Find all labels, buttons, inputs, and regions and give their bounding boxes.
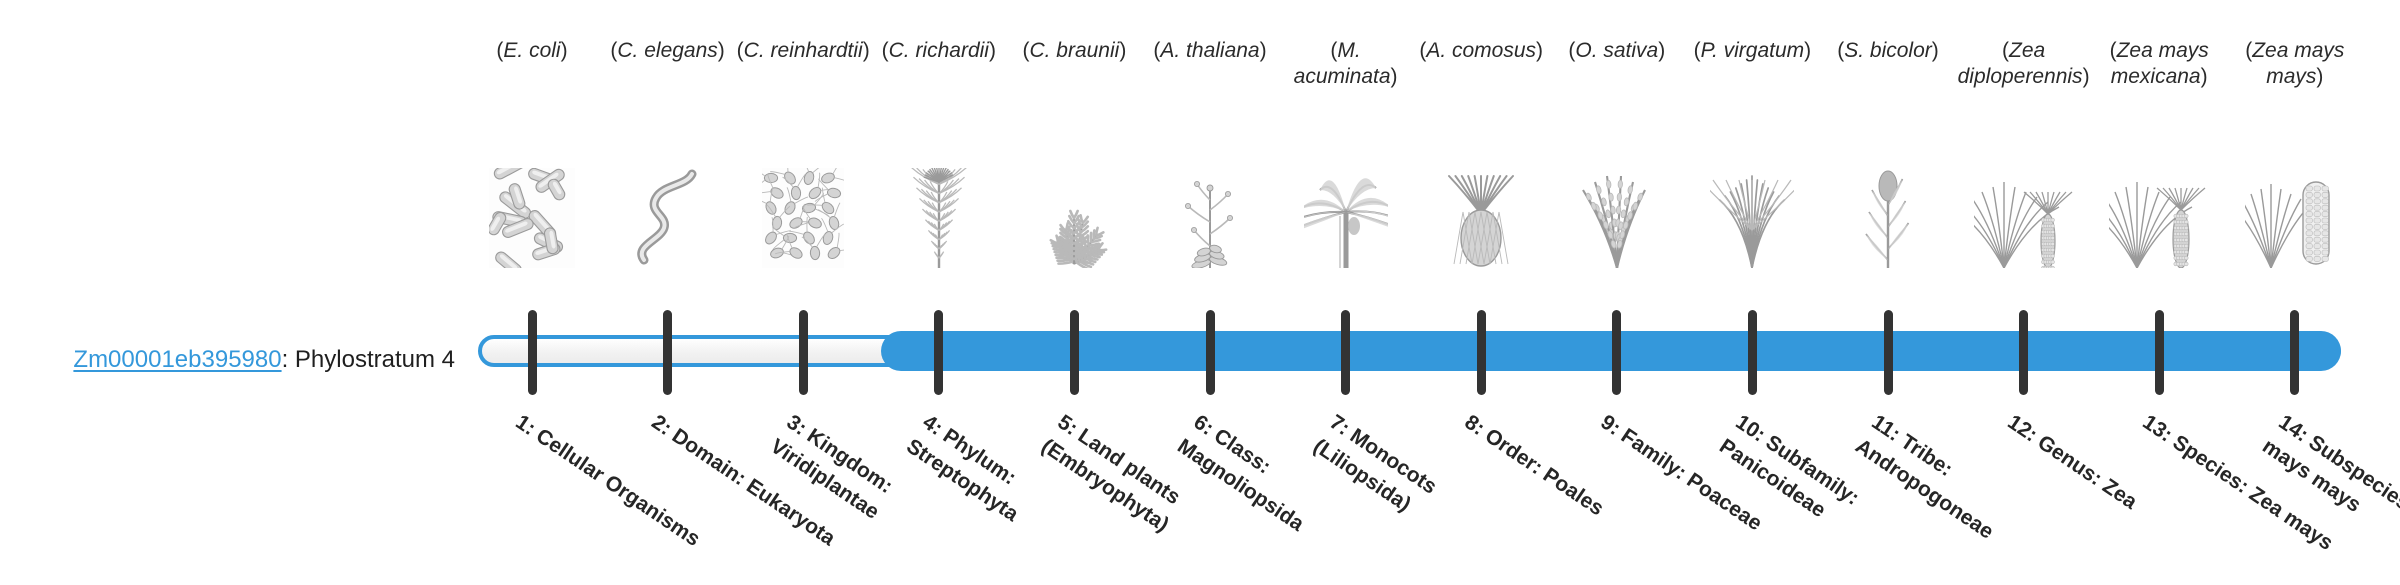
phylostratum-tick	[528, 310, 537, 395]
fern-icon	[1014, 168, 1134, 268]
species-scientific-name: (Zea mays mays)	[2228, 38, 2362, 96]
worm-icon	[608, 168, 728, 268]
phylostratum-tick	[1748, 310, 1757, 395]
phylostratum-progress-fill	[881, 331, 2341, 371]
phylostratum-tick	[2019, 310, 2028, 395]
species-column: (C. richardii)	[872, 28, 1006, 96]
teosinte-mexicana-icon	[2099, 168, 2219, 268]
species-scientific-name: (M. acuminata)	[1279, 38, 1413, 96]
banana-icon	[1286, 168, 1406, 268]
species-column: (C. elegans)	[601, 28, 735, 96]
species-scientific-name: (C. braunii)	[1007, 38, 1141, 96]
phylostratum-value-text: Phylostratum 4	[295, 346, 455, 373]
species-column: (O. sativa)	[1550, 28, 1684, 96]
species-scientific-name: (C. elegans)	[601, 38, 735, 96]
species-column: (P. virgatum)	[1685, 28, 1819, 96]
phylostratum-tick	[1477, 310, 1486, 395]
species-column: (A. thaliana)	[1143, 28, 1277, 96]
stonewort-icon	[879, 168, 999, 268]
species-scientific-name: (A. comosus)	[1414, 38, 1548, 96]
switchgrass-icon	[1692, 168, 1812, 268]
arabidopsis-icon	[1150, 168, 1270, 268]
species-column: (Zea mays mays)	[2228, 28, 2362, 96]
phylostratum-tick	[934, 310, 943, 395]
species-scientific-name: (E. coli)	[465, 38, 599, 96]
species-scientific-name: (S. bicolor)	[1821, 38, 1955, 96]
gene-id-link[interactable]: Zm00001eb395980	[73, 346, 281, 373]
species-scientific-name: (Zea diploperennis)	[1957, 38, 2091, 96]
species-scientific-name: (A. thaliana)	[1143, 38, 1277, 96]
species-scientific-name: (O. sativa)	[1550, 38, 1684, 96]
phylostratum-tick	[1070, 310, 1079, 395]
species-column: (S. bicolor)	[1821, 28, 1955, 96]
species-column: (C. braunii)	[1007, 28, 1141, 96]
gene-label-separator: :	[282, 346, 295, 373]
maize-icon	[2235, 168, 2355, 268]
species-scientific-name: (C. richardii)	[872, 38, 1006, 96]
species-scientific-name: (Zea mays mexicana)	[2092, 38, 2226, 96]
phylostratum-tick	[1206, 310, 1215, 395]
phylostratum-tick	[2290, 310, 2299, 395]
species-column: (E. coli)	[465, 28, 599, 96]
teosinte-diplo-icon	[1964, 168, 2084, 268]
species-column: (C. reinhardtii)	[736, 28, 870, 96]
phylostratum-tick	[1884, 310, 1893, 395]
species-scientific-name: (P. virgatum)	[1685, 38, 1819, 96]
algae-icon	[743, 168, 863, 268]
bacteria-icon	[472, 168, 592, 268]
rice-icon	[1557, 168, 1677, 268]
phylostratum-figure: Zm00001eb395980: Phylostratum 4 (E. coli…	[0, 0, 2400, 580]
phylostratum-tick	[663, 310, 672, 395]
pineapple-icon	[1421, 168, 1541, 268]
species-column: (Zea diploperennis)	[1957, 28, 2091, 96]
species-column: (A. comosus)	[1414, 28, 1548, 96]
phylostratum-tick	[1612, 310, 1621, 395]
gene-phylostratum-label: Zm00001eb395980: Phylostratum 4	[0, 345, 455, 375]
phylostratum-tick	[799, 310, 808, 395]
species-scientific-name: (C. reinhardtii)	[736, 38, 870, 96]
phylostratum-tick	[1341, 310, 1350, 395]
phylostratum-tick	[2155, 310, 2164, 395]
sorghum-icon	[1828, 168, 1948, 268]
species-column: (Zea mays mexicana)	[2092, 28, 2226, 96]
species-column: (M. acuminata)	[1279, 28, 1413, 96]
